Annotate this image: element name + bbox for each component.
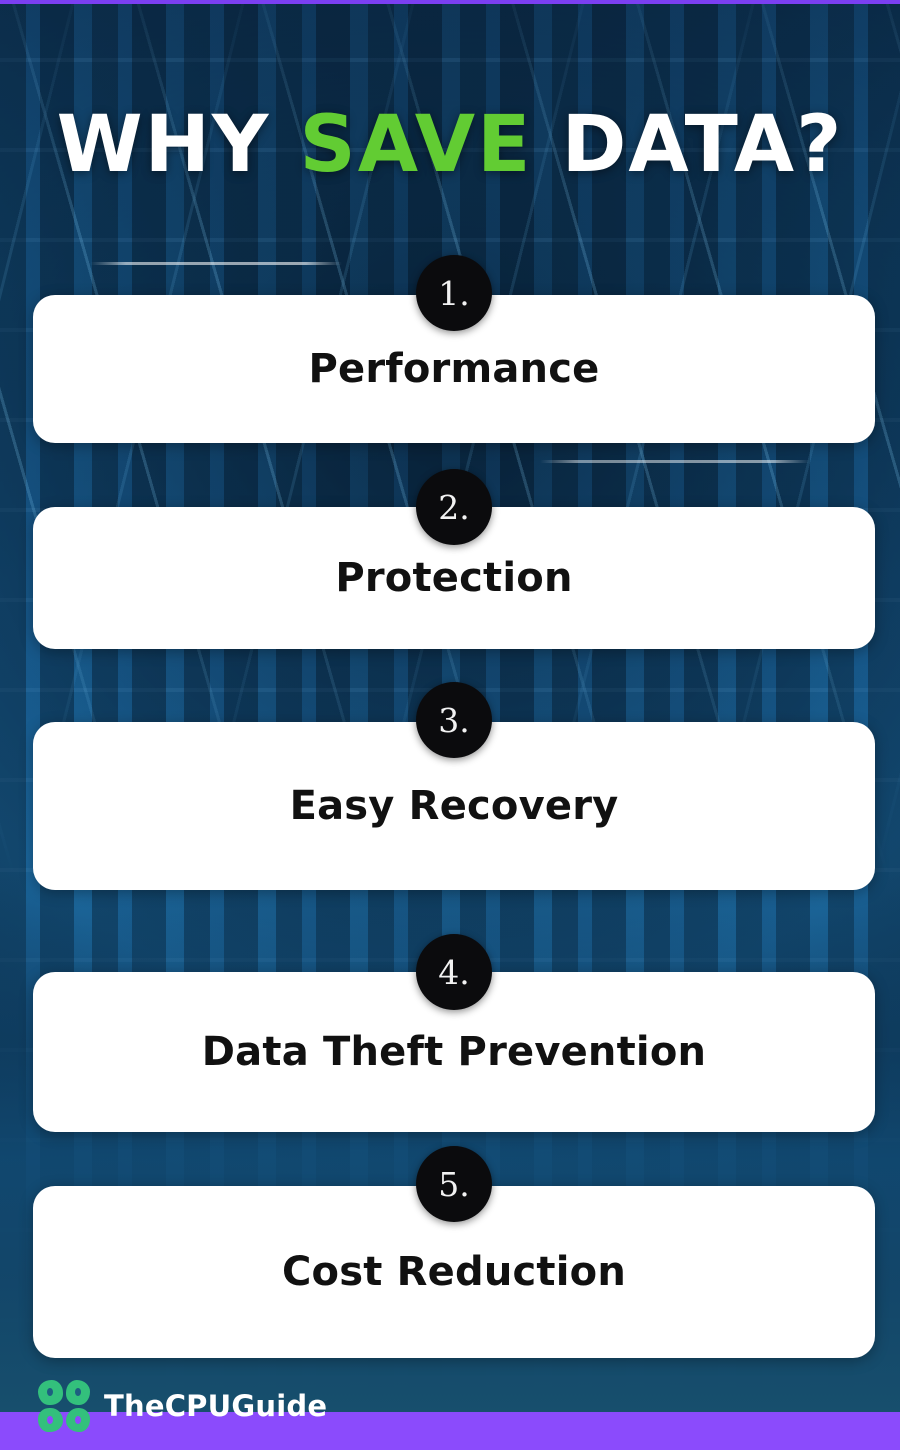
poster-canvas: WHY SAVE DATA? 1. Performance 2. Protect… bbox=[0, 0, 900, 1450]
list-item[interactable]: 4. Data Theft Prevention bbox=[33, 972, 875, 1132]
brand-watermark[interactable]: TheCPUGuide bbox=[38, 1378, 327, 1434]
list-item[interactable]: 1. Performance bbox=[33, 295, 875, 443]
reason-label: Protection bbox=[335, 555, 572, 601]
item-number-badge: 2. bbox=[416, 469, 492, 545]
reason-label: Performance bbox=[309, 346, 600, 392]
reason-label: Cost Reduction bbox=[282, 1249, 626, 1295]
logo-dot-bottom-right bbox=[66, 1408, 91, 1433]
logo-dot-top-left bbox=[38, 1380, 63, 1405]
reason-label: Data Theft Prevention bbox=[202, 1029, 706, 1075]
brand-name: TheCPUGuide bbox=[104, 1389, 327, 1423]
title-word-why: WHY bbox=[57, 100, 271, 190]
title-word-save: SAVE bbox=[300, 100, 533, 190]
logo-dot-top-right bbox=[66, 1380, 91, 1405]
item-number-badge: 4. bbox=[416, 934, 492, 1010]
list-item[interactable]: 3. Easy Recovery bbox=[33, 722, 875, 890]
four-leaf-dots-icon bbox=[38, 1380, 90, 1432]
page-title: WHY SAVE DATA? bbox=[0, 106, 900, 184]
item-number-badge: 3. bbox=[416, 682, 492, 758]
reason-label: Easy Recovery bbox=[290, 783, 619, 829]
logo-dot-bottom-left bbox=[38, 1408, 63, 1433]
list-item[interactable]: 5. Cost Reduction bbox=[33, 1186, 875, 1358]
item-number-badge: 1. bbox=[416, 255, 492, 331]
title-word-data: DATA? bbox=[562, 100, 844, 190]
top-accent-rule bbox=[0, 0, 900, 4]
item-number-badge: 5. bbox=[416, 1146, 492, 1222]
list-item[interactable]: 2. Protection bbox=[33, 507, 875, 649]
